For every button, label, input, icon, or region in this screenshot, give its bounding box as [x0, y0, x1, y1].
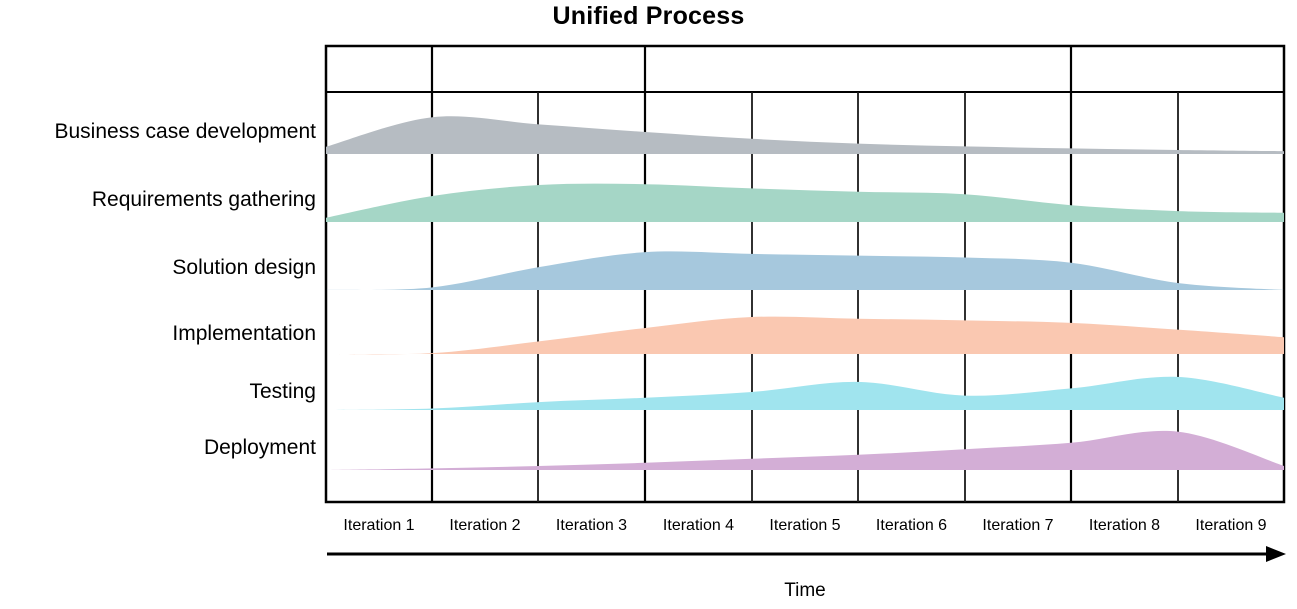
diagram-canvas: Unified Process Business case developmen…: [0, 0, 1297, 609]
time-arrow-icon: [327, 546, 1286, 562]
process-chart-svg: [0, 0, 1297, 609]
